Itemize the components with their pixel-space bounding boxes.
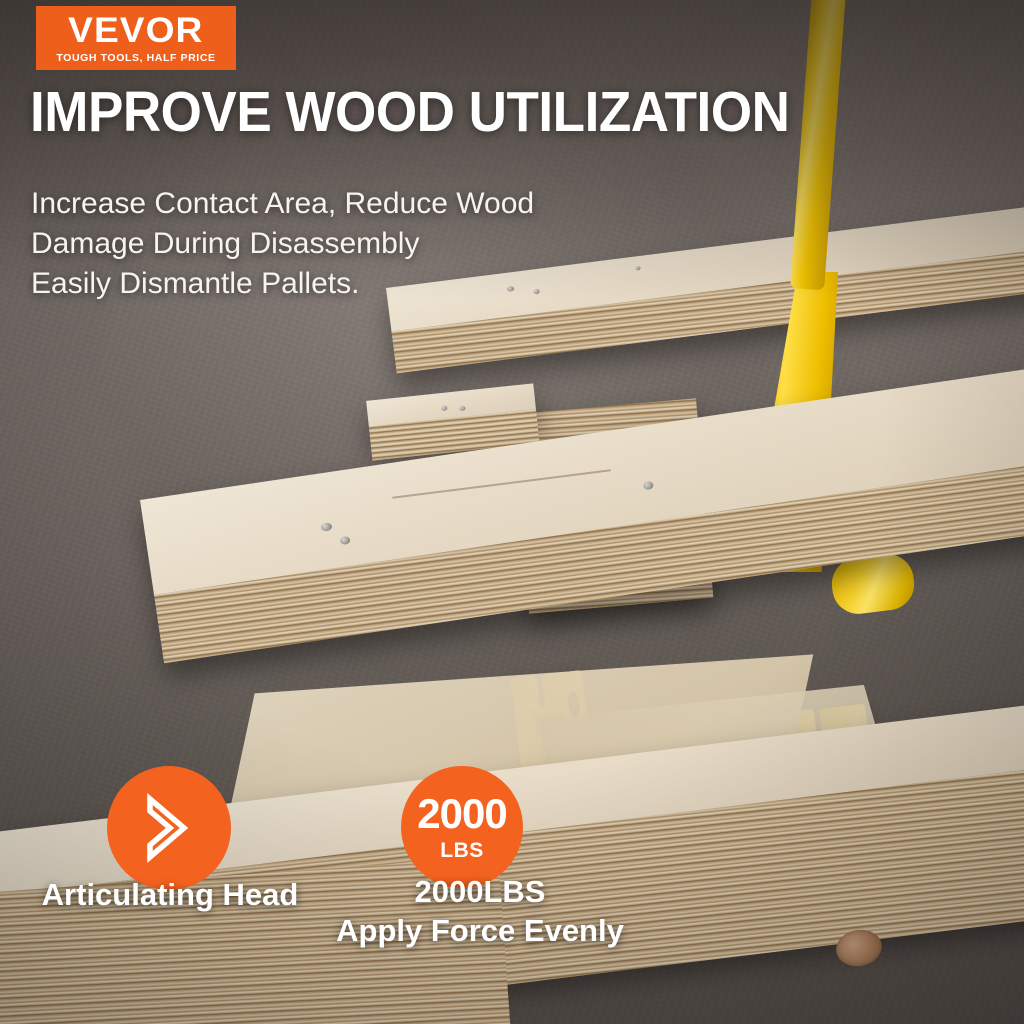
subtitle-line-3: Easily Dismantle Pallets. bbox=[31, 264, 534, 304]
product-infographic: VEVOR TOUGH TOOLS, HALF PRICE IMPROVE WO… bbox=[0, 0, 1024, 1024]
subtitle-line-1: Increase Contact Area, Reduce Wood bbox=[31, 184, 534, 224]
badge-articulating-head-caption: Articulating Head bbox=[6, 878, 334, 913]
badge-capacity-value: 2000 bbox=[417, 793, 506, 835]
brand-tagline: TOUGH TOOLS, HALF PRICE bbox=[56, 53, 215, 64]
vevor-logo[interactable]: VEVOR TOUGH TOOLS, HALF PRICE bbox=[36, 6, 236, 70]
chevron-right-icon bbox=[132, 791, 206, 865]
subtitle-line-2: Damage During Disassembly bbox=[31, 224, 534, 264]
brand-name: VEVOR bbox=[68, 13, 203, 48]
badge-capacity-caption-line-2: Apply Force Evenly bbox=[320, 911, 640, 950]
badge-capacity-unit: LBS bbox=[440, 840, 484, 861]
badge-capacity-caption: 2000LBS Apply Force Evenly bbox=[320, 872, 640, 950]
headline: IMPROVE WOOD UTILIZATION bbox=[30, 84, 789, 141]
badge-articulating-head bbox=[107, 766, 231, 890]
badge-capacity-caption-line-1: 2000LBS bbox=[320, 872, 640, 911]
badge-capacity: 2000 LBS bbox=[401, 766, 523, 888]
subtitle-block: Increase Contact Area, Reduce Wood Damag… bbox=[31, 184, 534, 304]
